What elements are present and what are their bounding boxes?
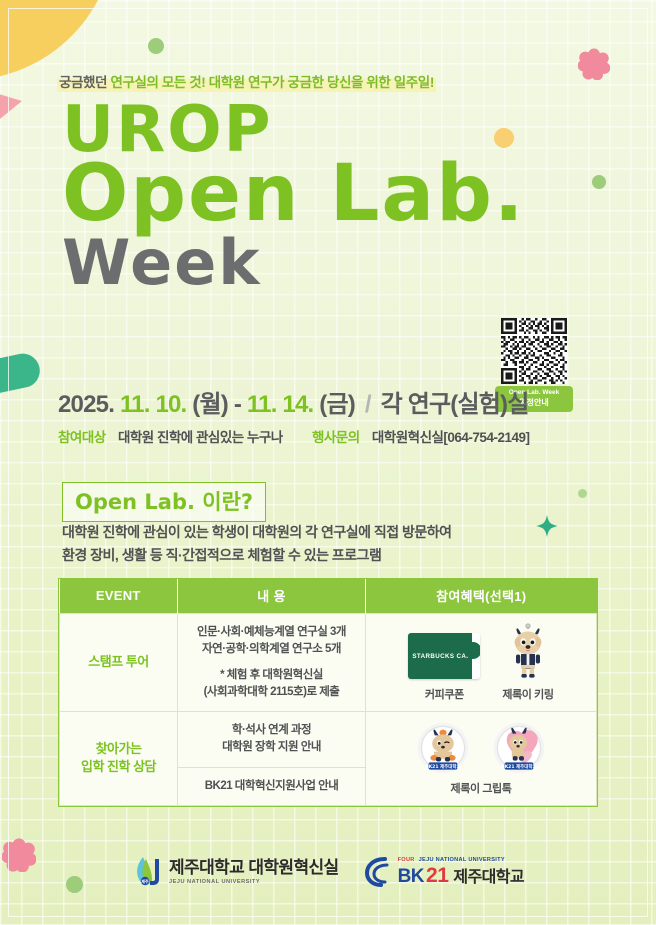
tagline-segment-gray: 궁금했던: [59, 75, 110, 90]
program-table-element: EVENT 내 용 참여혜택(선택1) 스탬프 투어 인문·사회·예체능계열 연…: [59, 579, 597, 806]
deer-griptok-persimmon-icon: BK21 제주대학교: [416, 721, 470, 775]
bk21-logo-text: FOUR JEJU NATIONAL UNIVERSITY BK 21 제주대학…: [398, 857, 524, 888]
bk21-bk-text: BK: [398, 866, 424, 888]
date-year: 2025.: [58, 391, 114, 418]
date-start: 11. 10.: [120, 391, 186, 418]
bk21-main-line: BK 21 제주대학교: [398, 863, 524, 888]
svg-text:제주: 제주: [141, 878, 149, 884]
date-end: 11. 14.: [247, 391, 313, 418]
benefit-griptok-caption: 제록이 그립톡: [370, 780, 592, 796]
pink-flower-decoration: [578, 48, 610, 80]
date-end-day: (금): [319, 391, 355, 418]
benefit-coffee-coupon: STARBUCKS CARD 커피쿠폰: [408, 633, 480, 702]
tagline: 궁금했던 연구실의 모든 것! 대학원 연구가 궁금한 당신을 위한 일주일!: [57, 70, 436, 92]
poster-title: UROP Open Lab. Week: [62, 104, 526, 289]
benefit-group: STARBUCKS CARD 커피쿠폰: [370, 623, 592, 702]
green-dot-decoration: [578, 489, 587, 498]
date-dash: -: [234, 391, 241, 418]
row1-event-label: 스탬프 투어: [60, 614, 178, 712]
table-header-benefit: 참여혜택(선택1): [366, 579, 597, 614]
contact-value: 대학원혁신실[064-754-2149]: [372, 430, 530, 445]
table-header-event: EVENT: [60, 579, 178, 614]
teal-star-decoration: [536, 515, 558, 537]
bk21-logo-unit: FOUR JEJU NATIONAL UNIVERSITY BK 21 제주대학…: [365, 857, 524, 888]
row1-benefits: STARBUCKS CARD 커피쿠폰: [366, 614, 597, 712]
jnu-logo-text: 제주대학교 대학원혁신실 JEJU NATIONAL UNIVERSITY: [169, 859, 339, 885]
row2-content-a-line2: 대학원 장학 지원 안내: [184, 739, 359, 756]
row1-note-line2: (사회과학대학 2115호)로 제출: [204, 686, 340, 698]
program-table: EVENT 내 용 참여혜택(선택1) 스탬프 투어 인문·사회·예체능계열 연…: [58, 578, 598, 807]
table-head: EVENT 내 용 참여혜택(선택1): [60, 579, 597, 614]
about-line1: 대학원 진학에 관심이 있는 학생이 대학원의 각 연구실에 직접 방문하여: [62, 521, 452, 544]
row2-event-line1: 찾아가는: [60, 740, 177, 759]
jnu-logo-unit: 제주 제주대학교 대학원혁신실 JEJU NATIONAL UNIVERSITY: [132, 855, 339, 889]
bk21-four-label: FOUR: [398, 857, 415, 863]
bk21-university-korean: 제주대학교: [453, 863, 524, 887]
teal-arc-decoration: [0, 351, 43, 396]
event-place: 각 연구(실험)실: [381, 391, 529, 418]
benefit-griptok-persimmon: BK21 제주대학교: [416, 721, 470, 775]
table-header-row: EVENT 내 용 참여혜택(선택1): [60, 579, 597, 614]
qr-code-icon[interactable]: [495, 318, 573, 384]
jnu-name-korean: 제주대학교 대학원혁신실: [169, 859, 339, 877]
about-line2: 환경 장비, 생활 등 직·간접적으로 체험할 수 있는 프로그램: [62, 544, 452, 567]
deer-griptok-heart-icon: BK21 제주대학교: [492, 721, 546, 775]
event-info-row: 참여대상 대학원 진학에 관심있는 누구나 행사문의 대학원혁신실[064-75…: [58, 426, 555, 446]
starbucks-card-icon: STARBUCKS CARD: [408, 633, 480, 679]
table-header-content: 내 용: [178, 579, 366, 614]
benefit-group: BK21 제주대학교: [370, 721, 592, 775]
deer-mascot-keyring-icon: [505, 623, 551, 679]
benefit-coffee-caption: 커피쿠폰: [425, 686, 464, 702]
row2-content-a: 학·석사 연계 과정 대학원 장학 지원 안내: [178, 712, 366, 768]
event-date-row: 2025. 11. 10. (월) - 11. 14. (금) / 각 연구(실…: [58, 384, 529, 419]
pink-triangle-decoration: [0, 92, 22, 120]
target-label: 참여대상: [58, 430, 106, 445]
table-row: 찾아가는 입학 진학 상담 학·석사 연계 과정 대학원 장학 지원 안내: [60, 712, 597, 768]
row2-content-b: BK21 대학혁신지원사업 안내: [178, 767, 366, 805]
row1-content: 인문·사회·예체능계열 연구실 3개 자연·공학·의학계열 연구소 5개 * 체…: [178, 614, 366, 712]
green-dot-decoration: [592, 175, 606, 189]
target-value: 대학원 진학에 관심있는 누구나: [118, 430, 283, 445]
row2-event-label: 찾아가는 입학 진학 상담: [60, 712, 178, 806]
date-start-day: (월): [192, 391, 228, 418]
row1-content-line2: 자연·공학·의학계열 연구소 5개: [184, 641, 359, 658]
row1-content-line1: 인문·사회·예체능계열 연구실 3개: [184, 624, 359, 641]
green-dot-decoration: [148, 38, 164, 54]
bk21-21-text: 21: [426, 864, 448, 888]
row2-benefits: BK21 제주대학교: [366, 712, 597, 806]
footer-logos: 제주 제주대학교 대학원혁신실 JEJU NATIONAL UNIVERSITY…: [0, 855, 656, 889]
title-line-week: Week: [62, 237, 526, 289]
tagline-segment-green: 연구실의 모든 것! 대학원 연구가 궁금한 당신을 위한 일주일!: [110, 75, 433, 90]
date-separator: /: [365, 391, 371, 418]
table-body: 스탬프 투어 인문·사회·예체능계열 연구실 3개 자연·공학·의학계열 연구소…: [60, 614, 597, 806]
row2-content-a-line1: 학·석사 연계 과정: [184, 722, 359, 739]
benefit-keyring: 제록이 키링: [502, 623, 553, 702]
table-row: 스탬프 투어 인문·사회·예체능계열 연구실 3개 자연·공학·의학계열 연구소…: [60, 614, 597, 712]
benefit-griptok-heart: BK21 제주대학교: [492, 721, 546, 775]
contact-label: 행사문의: [312, 430, 360, 445]
row1-note-line1: * 체험 후 대학원혁신실: [184, 667, 359, 684]
about-badge: Open Lab. 이란?: [62, 482, 266, 522]
poster-canvas: 궁금했던 연구실의 모든 것! 대학원 연구가 궁금한 당신을 위한 일주일! …: [0, 0, 656, 925]
row2-event-line2: 입학 진학 상담: [60, 758, 177, 777]
benefit-keyring-caption: 제록이 키링: [502, 686, 553, 702]
title-line-open-lab: Open Lab.: [62, 162, 526, 228]
about-description: 대학원 진학에 관심이 있는 학생이 대학원의 각 연구실에 직접 방문하여 환…: [62, 521, 452, 567]
jnu-name-english: JEJU NATIONAL UNIVERSITY: [169, 879, 339, 885]
jnu-emblem-icon: 제주: [132, 855, 162, 889]
bk21-bracket-icon: [365, 857, 391, 887]
